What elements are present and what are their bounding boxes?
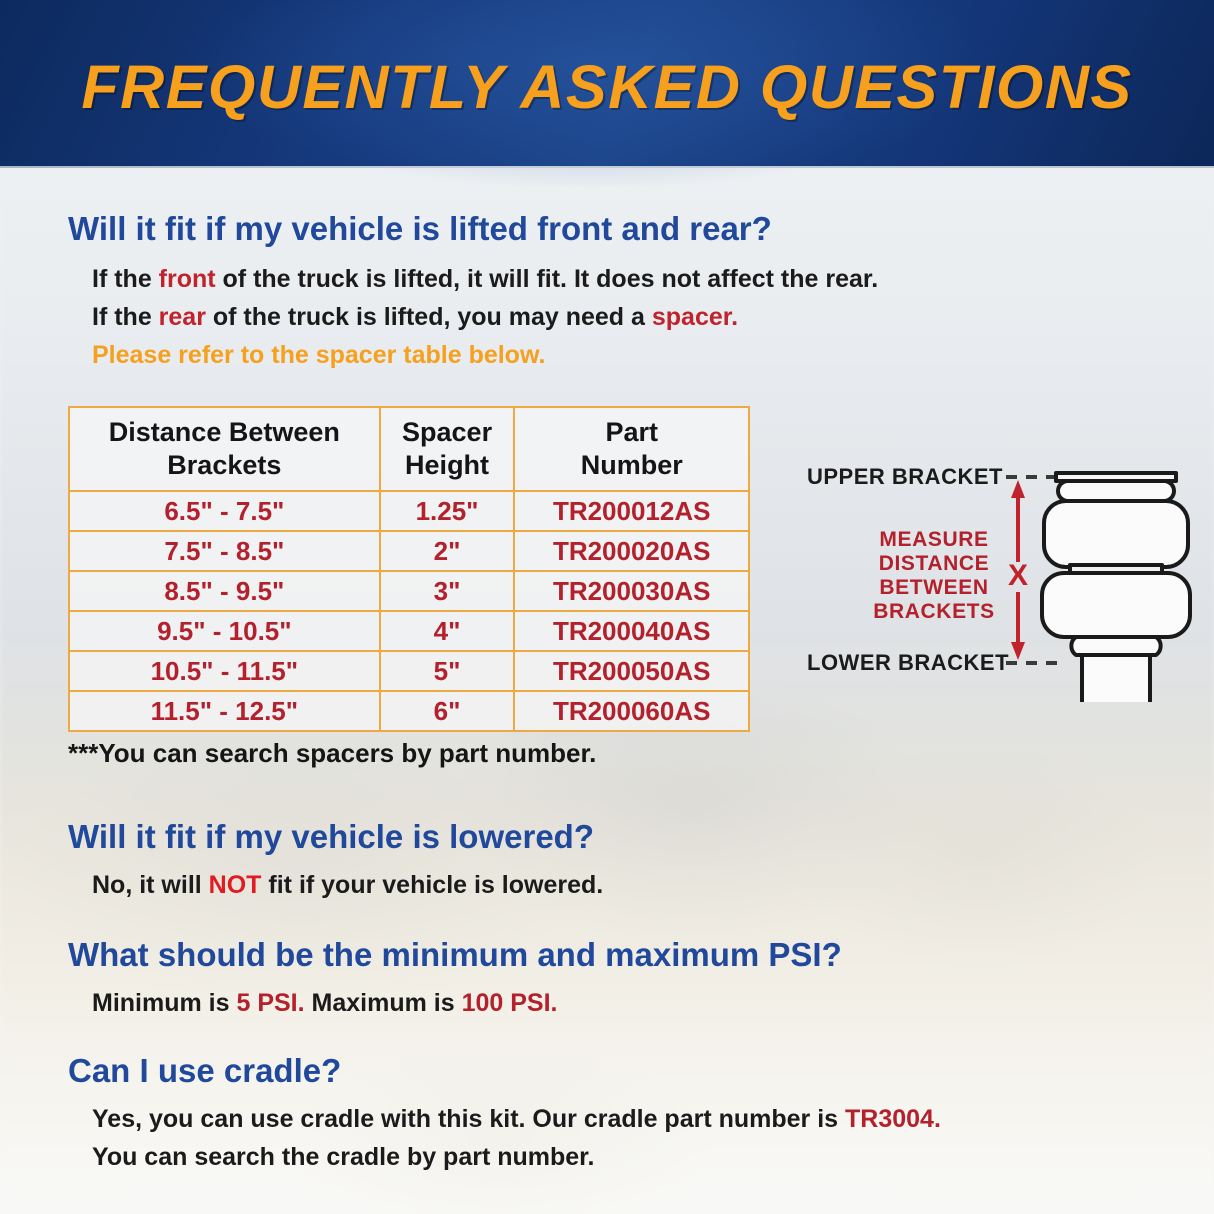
cell-distance: 11.5" - 12.5" xyxy=(69,691,380,731)
cradle-l1-part1: Yes, you can use cradle with this kit. O… xyxy=(92,1105,845,1133)
answer-lifted-line1: If the front of the truck is lifted, it … xyxy=(68,260,878,298)
cell-part: TR200020AS xyxy=(514,531,749,571)
header-distance-line2: Brackets xyxy=(76,449,373,482)
table-row: 11.5" - 12.5" 6" TR200060AS xyxy=(69,691,749,731)
answer-cradle-line2: You can search the cradle by part number… xyxy=(68,1138,941,1176)
lifted-l2-highlight-spacer: spacer. xyxy=(652,303,738,331)
cell-height: 6" xyxy=(380,691,515,731)
table-header-part: Part Number xyxy=(514,407,749,491)
diagram-lower-label: LOWER BRACKET xyxy=(807,650,1009,675)
svg-text:BRACKETS: BRACKETS xyxy=(873,600,994,623)
table-row: 9.5" - 10.5" 4" TR200040AS xyxy=(69,611,749,651)
cell-height: 1.25" xyxy=(380,491,515,531)
bracket-measurement-diagram: UPPER BRACKET LOWER BRACKET MEASURE DIST… xyxy=(790,452,1200,702)
lifted-l2-part1: If the xyxy=(92,303,159,331)
cell-distance: 10.5" - 11.5" xyxy=(69,651,380,691)
cell-distance: 6.5" - 7.5" xyxy=(69,491,380,531)
cell-part: TR200050AS xyxy=(514,651,749,691)
header-distance-line1: Distance Between xyxy=(76,416,373,449)
table-header-row: Distance Between Brackets Spacer Height … xyxy=(69,407,749,491)
lifted-l1-part2: of the truck is lifted, it will fit. It … xyxy=(216,265,879,293)
question-psi: What should be the minimum and maximum P… xyxy=(68,936,842,974)
psi-highlight-min: 5 PSI. xyxy=(236,989,304,1017)
svg-text:BETWEEN: BETWEEN xyxy=(879,576,988,599)
spacer-table: Distance Between Brackets Spacer Height … xyxy=(68,406,750,732)
cell-part: TR200040AS xyxy=(514,611,749,651)
svg-text:MEASURE: MEASURE xyxy=(879,528,988,551)
cell-distance: 8.5" - 9.5" xyxy=(69,571,380,611)
faq-infographic: FREQUENTLY ASKED QUESTIONS Will it fit i… xyxy=(0,0,1214,1214)
dimension-symbol-x: X xyxy=(1008,559,1028,592)
question-lifted: Will it fit if my vehicle is lifted fron… xyxy=(68,210,878,248)
question-lowered: Will it fit if my vehicle is lowered? xyxy=(68,818,603,856)
page-title: FREQUENTLY ASKED QUESTIONS xyxy=(0,52,1214,122)
section-lowered: Will it fit if my vehicle is lowered? No… xyxy=(68,818,603,904)
header-part-line2: Number xyxy=(521,449,742,482)
psi-part2: Maximum is xyxy=(305,989,462,1017)
cell-height: 4" xyxy=(380,611,515,651)
header-part-line1: Part xyxy=(521,416,742,449)
section-psi: What should be the minimum and maximum P… xyxy=(68,936,842,1022)
lowered-highlight-not: NOT xyxy=(209,871,262,899)
lowered-part2: fit if your vehicle is lowered. xyxy=(261,871,603,899)
section-cradle: Can I use cradle? Yes, you can use cradl… xyxy=(68,1052,941,1176)
cell-height: 3" xyxy=(380,571,515,611)
answer-psi: Minimum is 5 PSI. Maximum is 100 PSI. xyxy=(68,984,842,1022)
header-height-line2: Height xyxy=(387,449,508,482)
cell-part: TR200030AS xyxy=(514,571,749,611)
lowered-part1: No, it will xyxy=(92,871,209,899)
lifted-l1-part1: If the xyxy=(92,265,159,293)
answer-cradle-line1: Yes, you can use cradle with this kit. O… xyxy=(68,1100,941,1138)
table-header-height: Spacer Height xyxy=(380,407,515,491)
cell-distance: 7.5" - 8.5" xyxy=(69,531,380,571)
air-spring-illustration xyxy=(1042,473,1190,702)
table-row: 7.5" - 8.5" 2" TR200020AS xyxy=(69,531,749,571)
spacer-table-note: ***You can search spacers by part number… xyxy=(68,738,596,769)
psi-part1: Minimum is xyxy=(92,989,236,1017)
table-row: 10.5" - 11.5" 5" TR200050AS xyxy=(69,651,749,691)
header-banner: FREQUENTLY ASKED QUESTIONS xyxy=(0,0,1214,168)
lifted-l2-highlight-rear: rear xyxy=(159,303,206,331)
diagram-upper-label: UPPER BRACKET xyxy=(807,464,1003,489)
cell-height: 2" xyxy=(380,531,515,571)
lifted-l1-highlight-front: front xyxy=(159,265,216,293)
diagram-measure-text: MEASURE DISTANCE BETWEEN BRACKETS xyxy=(873,528,994,623)
answer-lifted-line3: Please refer to the spacer table below. xyxy=(68,336,878,374)
lifted-l2-part2: of the truck is lifted, you may need a xyxy=(206,303,652,331)
cell-part: TR200060AS xyxy=(514,691,749,731)
psi-highlight-max: 100 PSI. xyxy=(462,989,558,1017)
header-divider xyxy=(0,166,1214,168)
question-cradle: Can I use cradle? xyxy=(68,1052,941,1090)
table-row: 6.5" - 7.5" 1.25" TR200012AS xyxy=(69,491,749,531)
cell-height: 5" xyxy=(380,651,515,691)
section-lifted: Will it fit if my vehicle is lifted fron… xyxy=(68,210,878,374)
header-height-line1: Spacer xyxy=(387,416,508,449)
cell-part: TR200012AS xyxy=(514,491,749,531)
table-header-distance: Distance Between Brackets xyxy=(69,407,380,491)
cell-distance: 9.5" - 10.5" xyxy=(69,611,380,651)
answer-lowered: No, it will NOT fit if your vehicle is l… xyxy=(68,866,603,904)
cradle-highlight-partnumber: TR3004. xyxy=(845,1105,941,1133)
svg-text:DISTANCE: DISTANCE xyxy=(879,552,990,575)
answer-lifted-line2: If the rear of the truck is lifted, you … xyxy=(68,298,878,336)
table-row: 8.5" - 9.5" 3" TR200030AS xyxy=(69,571,749,611)
